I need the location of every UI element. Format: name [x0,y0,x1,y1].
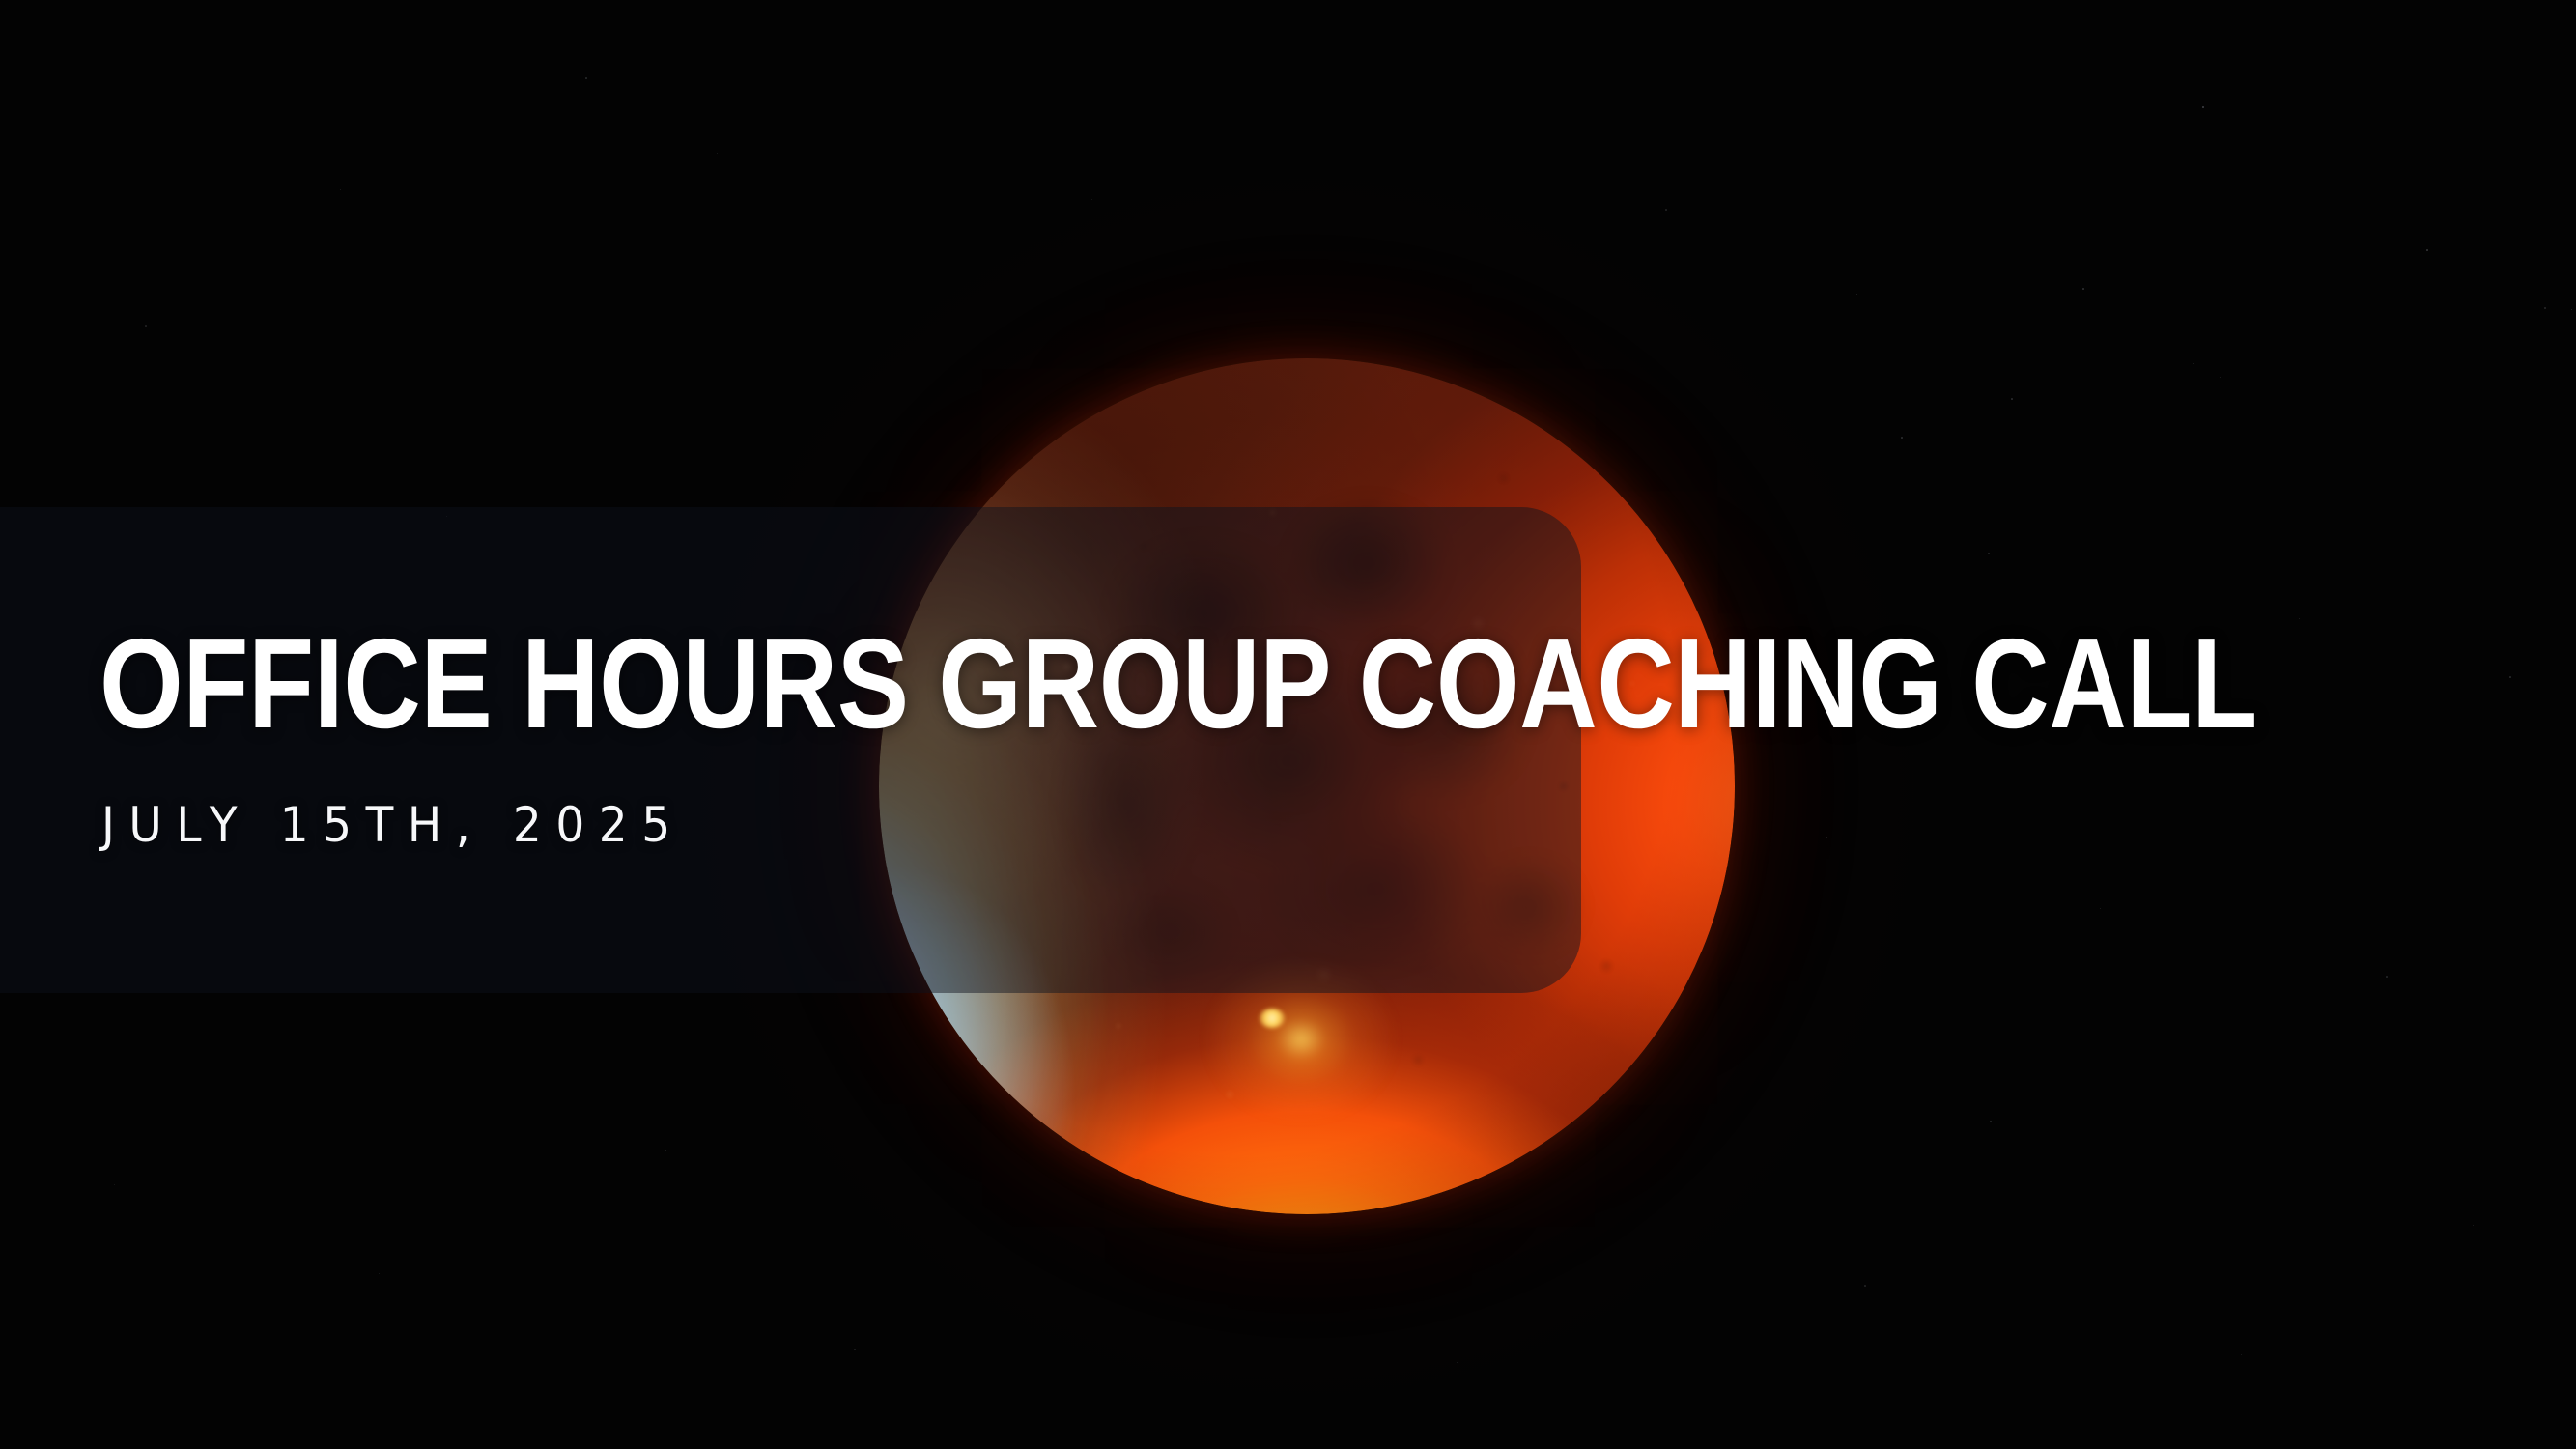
star-icon [2241,1354,2242,1355]
star-icon [2299,618,2300,619]
star-icon [2473,1225,2474,1226]
banner-text-block: OFFICE HOURS GROUP COACHING CALL JULY 15… [99,507,1529,993]
star-icon [717,153,718,154]
star-icon [1457,1362,1458,1363]
star-icon [2386,976,2388,978]
star-icon [340,189,341,190]
star-icon [379,1273,380,1274]
star-icon [114,1184,115,1185]
page-title: OFFICE HOURS GROUP COACHING CALL [99,621,2257,746]
star-icon [2100,908,2101,909]
star-icon [585,77,587,79]
star-icon [1091,199,1092,200]
star-icon [145,325,147,327]
star-icon [1990,1121,1992,1122]
star-icon [1864,1285,1866,1287]
star-icon [2509,676,2511,678]
star-icon [2011,398,2013,400]
star-icon [2082,288,2084,290]
star-icon [2426,249,2428,251]
star-icon [2544,307,2546,309]
star-icon [1901,437,1903,439]
slide-canvas: OFFICE HOURS GROUP COACHING CALL JULY 15… [0,0,2576,1449]
star-icon [665,1150,666,1151]
star-icon [2193,363,2194,364]
star-icon [1856,294,1857,295]
event-date: JULY 15TH, 2025 [101,797,685,853]
star-icon [1665,209,1667,211]
star-icon [854,1349,856,1350]
star-icon [1988,553,1990,554]
star-icon [2220,377,2221,378]
star-icon [2571,309,2572,310]
star-icon [2202,106,2204,108]
